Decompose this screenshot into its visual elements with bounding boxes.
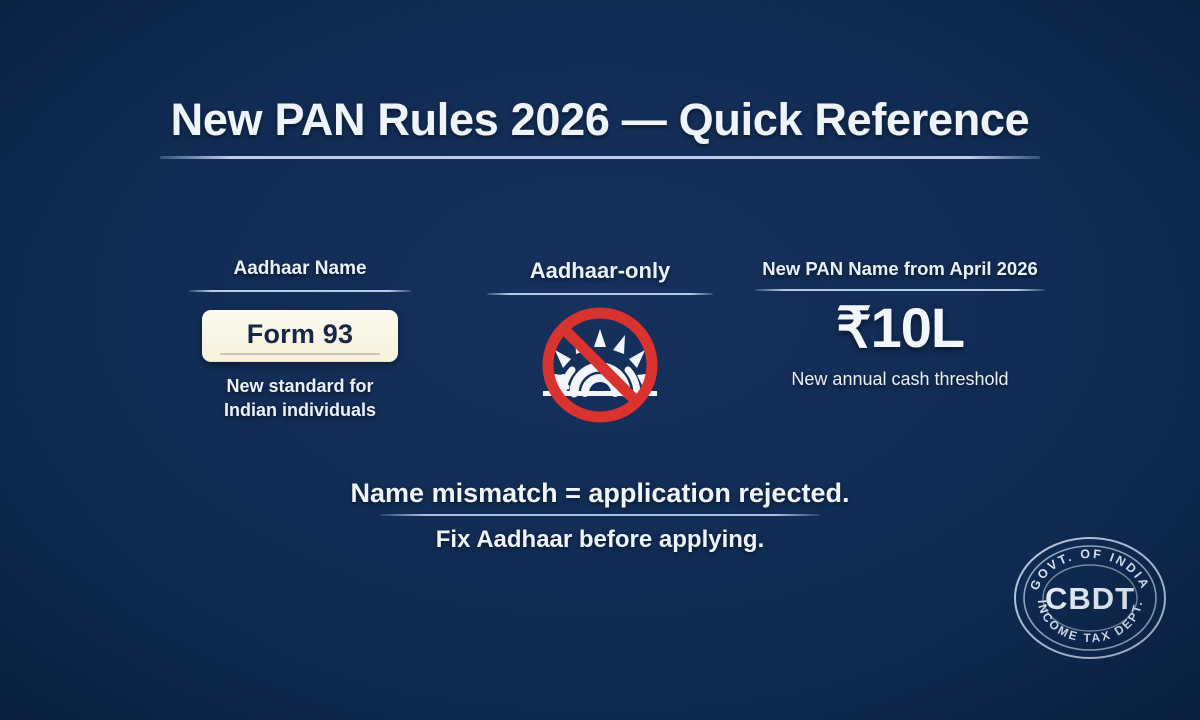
statement-divider: [380, 514, 820, 516]
column-heading: New PAN Name from April 2026: [750, 258, 1050, 280]
column-caption: New annual cash threshold: [750, 368, 1050, 392]
title-block: New PAN Rules 2026 — Quick Reference: [0, 96, 1200, 145]
column-heading: Aadhaar-only: [450, 258, 750, 284]
fact-column-pan-name: New PAN Name from April 2026 ₹10L New an…: [750, 258, 1050, 392]
chip-underline: [220, 353, 380, 355]
column-heading: Aadhaar Name: [150, 258, 450, 281]
column-caption: New standard for Indian individuals: [150, 375, 450, 423]
column-caption-line1: New standard for: [226, 376, 373, 396]
cbdt-seal: GOVT. OF INDIA INCOME TAX DEPT. CBDT: [1012, 536, 1168, 660]
column-heading-divider: [487, 293, 713, 295]
page-title: New PAN Rules 2026 — Quick Reference: [0, 96, 1200, 145]
cash-threshold-value: ₹10L: [750, 297, 1050, 360]
aadhaar-dot: [564, 385, 569, 390]
form-number-chip: Form 93: [202, 310, 398, 362]
poster-canvas: New PAN Rules 2026 — Quick Reference Aad…: [0, 0, 1200, 720]
title-divider: [160, 156, 1040, 159]
aadhaar-prohibited-icon: [515, 303, 685, 423]
column-heading-divider: [755, 289, 1045, 291]
fact-column-aadhaar-only: Aadhaar-only: [450, 258, 750, 423]
statement-line-1: Name mismatch = application rejected.: [0, 478, 1200, 509]
column-heading-divider: [189, 290, 411, 292]
column-caption-line2: Indian individuals: [224, 400, 376, 420]
seal-center-text: CBDT: [1045, 581, 1135, 616]
form-number-value: Form 93: [247, 321, 353, 348]
fact-columns: Aadhaar Name Form 93 New standard for In…: [0, 258, 1200, 423]
fact-column-aadhaar-name: Aadhaar Name Form 93 New standard for In…: [150, 258, 450, 423]
